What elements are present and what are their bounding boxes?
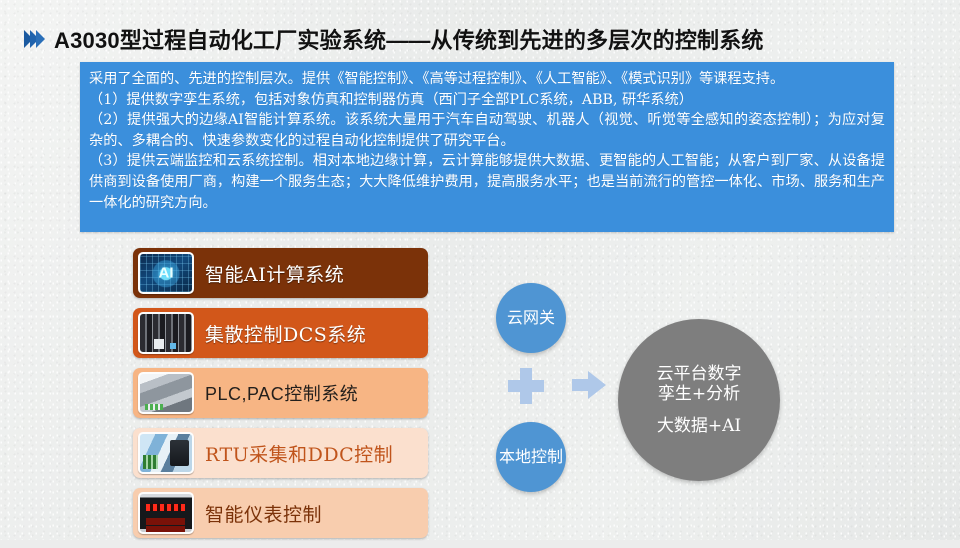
local-control-node[interactable]: 本地控制 (496, 422, 566, 492)
arrow-right-icon (572, 371, 606, 399)
local-control-label: 本地控制 (499, 448, 563, 467)
layer-item-ai[interactable]: 智能AI计算系统 (133, 248, 428, 298)
slide-title-row: A3030型过程自动化工厂实验系统——从传统到先进的多层次的控制系统 (24, 22, 940, 56)
page-title: A3030型过程自动化工厂实验系统——从传统到先进的多层次的控制系统 (54, 23, 764, 55)
layer-item-label: PLC,PAC控制系统 (205, 380, 358, 406)
description-paragraph-4: （3）提供云端监控和云系统控制。相对本地边缘计算，云计算能够提供大数据、更智能的… (89, 151, 885, 213)
cloud-gateway-label: 云网关 (507, 309, 555, 328)
description-paragraph-1: 采用了全面的、先进的控制层次。提供《智能控制》、《高等过程控制》、《人工智能》、… (89, 69, 885, 90)
rtu-device-icon (138, 432, 194, 474)
layer-item-dcs[interactable]: 集散控制DCS系统 (133, 308, 428, 358)
description-panel: 采用了全面的、先进的控制层次。提供《智能控制》、《高等过程控制》、《人工智能》、… (80, 62, 894, 232)
description-paragraph-3: （2）提供强大的边缘AI智能计算系统。该系统大量用于汽车自动驾驶、机器人（视觉、… (89, 110, 885, 151)
layer-item-plc[interactable]: PLC,PAC控制系统 (133, 368, 428, 418)
plus-icon (508, 368, 544, 404)
layer-item-label: 智能仪表控制 (205, 500, 322, 527)
server-rack-icon (138, 312, 194, 354)
cloud-platform-line-2: 孪生+分析 (658, 384, 740, 404)
cloud-platform-line-1: 云平台数字 (657, 364, 742, 384)
cloud-gateway-node[interactable]: 云网关 (496, 283, 566, 353)
triple-chevron-right-icon (24, 30, 42, 48)
ai-chip-icon (138, 252, 194, 294)
layer-item-rtu[interactable]: RTU采集和DDC控制 (133, 428, 428, 478)
layer-item-meter[interactable]: 智能仪表控制 (133, 488, 428, 538)
description-paragraph-2: （1）提供数字孪生系统，包括对象仿真和控制器仿真（西门子全部PLC系统，ABB,… (89, 90, 885, 111)
control-layer-stack: 智能AI计算系统 集散控制DCS系统 PLC,PAC控制系统 RTU采集和DDC… (133, 248, 428, 548)
plc-module-icon (138, 372, 194, 414)
panel-meter-icon (138, 492, 194, 534)
layer-item-label: 集散控制DCS系统 (205, 320, 366, 347)
slide-canvas: A3030型过程自动化工厂实验系统——从传统到先进的多层次的控制系统 采用了全面… (0, 0, 960, 540)
layer-item-label: RTU采集和DDC控制 (205, 440, 393, 467)
cloud-platform-node[interactable]: 云平台数字 孪生+分析 大数据+AI (618, 319, 780, 481)
cloud-platform-line-3: 大数据+AI (657, 416, 741, 436)
layer-item-label: 智能AI计算系统 (205, 260, 344, 287)
